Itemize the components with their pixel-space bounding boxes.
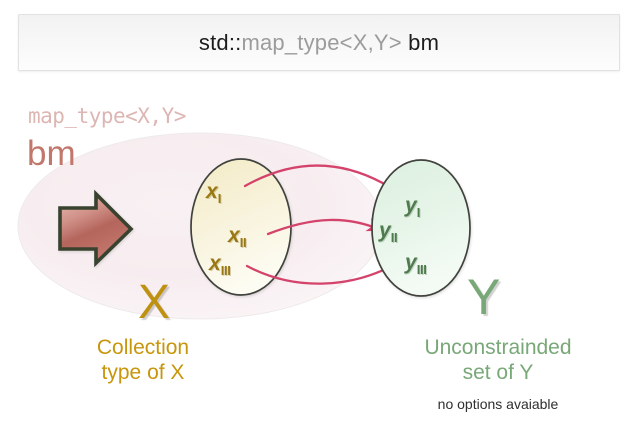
codomain-node-y3: yIII	[405, 251, 427, 277]
codomain-set-glyph: Y	[467, 268, 500, 327]
domain-caption: Collection type of X	[0, 336, 286, 386]
domain-set-glyph: X	[138, 275, 170, 332]
domain-node-x2-sub: II	[240, 235, 247, 250]
codomain-node-y3-base: y	[405, 251, 417, 274]
codomain-node-y2-base: y	[379, 219, 391, 242]
codomain-node-y1: yI	[405, 194, 420, 220]
diagram-canvas: std::map_type<X,Y> bm	[0, 0, 640, 435]
domain-node-x1-sub: I	[218, 191, 221, 206]
domain-node-x2-base: x	[228, 224, 240, 247]
codomain-node-y2-sub: II	[391, 230, 398, 245]
domain-caption-line2: type of X	[0, 361, 286, 386]
codomain-note: no options avaiable	[356, 396, 640, 413]
container-type-label: map_type<X,Y>	[28, 104, 186, 129]
domain-node-x3: xIII	[209, 252, 231, 278]
codomain-node-y1-base: y	[405, 194, 417, 217]
codomain-node-y2: yII	[379, 219, 397, 245]
codomain-caption-line1: Unconstrainded	[356, 336, 640, 361]
codomain-node-y1-sub: I	[417, 205, 420, 220]
codomain-node-y3-sub: III	[417, 262, 427, 277]
domain-node-x2: xII	[228, 224, 246, 250]
domain-node-x1-base: x	[206, 180, 218, 203]
domain-node-x3-base: x	[209, 252, 221, 275]
domain-caption-line1: Collection	[0, 336, 286, 361]
domain-node-x1: xI	[206, 180, 221, 206]
codomain-caption-line2: set of Y	[356, 361, 640, 386]
codomain-caption: Unconstrainded set of Y	[356, 336, 640, 386]
domain-node-x3-sub: III	[221, 263, 231, 278]
container-instance-label: bm	[27, 133, 76, 174]
